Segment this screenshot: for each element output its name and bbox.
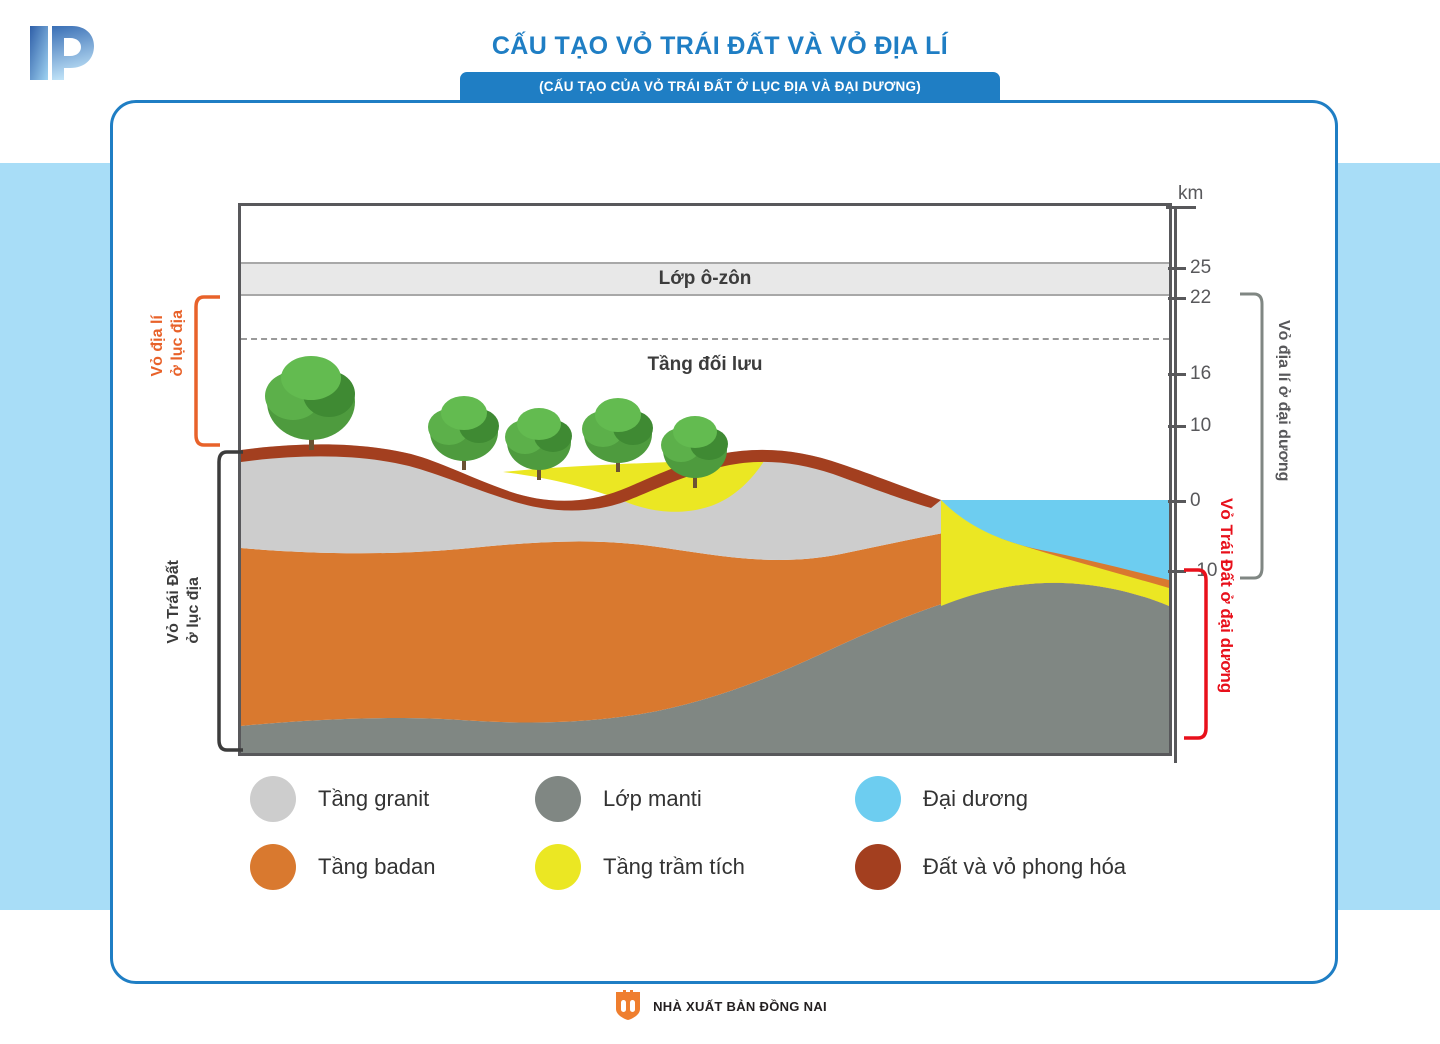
tree-icon <box>582 398 653 472</box>
legend-label: Tầng granit <box>318 786 429 812</box>
bracket-right-bottom <box>1182 568 1212 740</box>
axis-tick <box>1168 425 1186 428</box>
footer: NHÀ XUẤT BẢN ĐỒNG NAI <box>0 988 1440 1025</box>
axis-tick <box>1168 267 1186 270</box>
legend-row: Tầng badan Tầng trầm tích Đất và vỏ phon… <box>250 844 1210 890</box>
legend-item: Tầng trầm tích <box>535 844 855 890</box>
legend-label: Đất và vỏ phong hóa <box>923 854 1126 880</box>
publisher-name: NHÀ XUẤT BẢN ĐỒNG NAI <box>653 999 827 1014</box>
legend: Tầng granit Lớp manti Đại dương Tầng bad… <box>250 776 1210 912</box>
legend-swatch-lop-manti <box>535 776 581 822</box>
bracket-left-bottom <box>215 450 245 752</box>
legend-swatch-dai-duong <box>855 776 901 822</box>
axis-tick-label: 25 <box>1190 257 1211 279</box>
cross-section-diagram: Lớp ô-zôn Tầng đối lưu <box>238 203 1172 756</box>
legend-swatch-tang-badan <box>250 844 296 890</box>
legend-row: Tầng granit Lớp manti Đại dương <box>250 776 1210 822</box>
axis-tick-label: 0 <box>1190 490 1201 512</box>
tree-icon <box>661 416 728 488</box>
tree-row <box>241 206 1169 753</box>
label-vo-dia-li-luc-dia: Vỏ địa lí ở lục địa <box>148 310 188 377</box>
legend-item: Tầng granit <box>250 776 535 822</box>
legend-item: Đại dương <box>855 776 1028 822</box>
legend-swatch-dat-vo-phong-hoa <box>855 844 901 890</box>
page-title: CẤU TẠO VỎ TRÁI ĐẤT VÀ VỎ ĐỊA LÍ <box>0 32 1440 61</box>
legend-label: Lớp manti <box>603 786 702 812</box>
axis-top-cap <box>1166 206 1196 209</box>
legend-label: Tầng badan <box>318 854 435 880</box>
axis-tick-label: 16 <box>1190 363 1211 385</box>
label-vo-trai-dat-dai-duong: Vỏ Trái Đất ở đại dương <box>1216 498 1236 693</box>
legend-swatch-tang-granit <box>250 776 296 822</box>
axis-line <box>1174 207 1177 763</box>
axis-tick <box>1168 373 1186 376</box>
legend-label: Đại dương <box>923 786 1028 812</box>
label-vo-dia-li-dai-duong: Vỏ địa lí ở đại dương <box>1274 320 1292 481</box>
page-subtitle: (CẤU TẠO CỦA VỎ TRÁI ĐẤT Ở LỤC ĐỊA VÀ ĐẠ… <box>539 79 921 94</box>
publisher-shield-logo-icon <box>613 988 643 1025</box>
page-subtitle-pill: (CẤU TẠO CỦA VỎ TRÁI ĐẤT Ở LỤC ĐỊA VÀ ĐẠ… <box>460 72 1000 100</box>
label-vo-trai-dat-luc-dia: Vỏ Trái Đất ở lục địa <box>164 560 204 644</box>
legend-item: Lớp manti <box>535 776 855 822</box>
legend-label: Tầng trầm tích <box>603 854 745 880</box>
tree-icon <box>265 356 355 450</box>
axis-tick <box>1168 297 1186 300</box>
axis-tick <box>1168 500 1186 503</box>
tree-icon <box>505 408 572 480</box>
axis-tick-label: 22 <box>1190 287 1211 309</box>
legend-item: Đất và vỏ phong hóa <box>855 844 1126 890</box>
bracket-left-top <box>192 295 222 447</box>
tree-icon <box>428 396 499 470</box>
legend-item: Tầng badan <box>250 844 535 890</box>
legend-swatch-tang-tram-tich <box>535 844 581 890</box>
axis-tick-label: 10 <box>1190 415 1211 437</box>
axis-unit-label: km <box>1178 183 1203 205</box>
bracket-right-top <box>1238 292 1268 580</box>
